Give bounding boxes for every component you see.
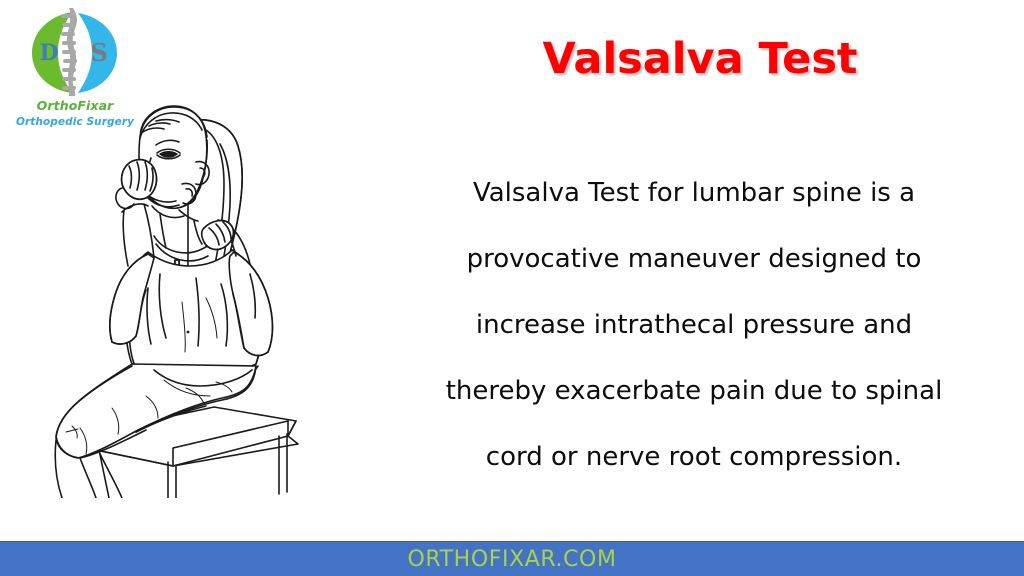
- logo-mark-icon: D S: [28, 8, 120, 96]
- description-line-1: Valsalva Test for lumbar spine is a: [392, 160, 996, 226]
- svg-text:S: S: [90, 38, 107, 67]
- description-line-2: provocative maneuver designed to: [392, 226, 996, 292]
- description-line-5: cord or nerve root compression.: [392, 424, 996, 490]
- description-line-3: increase intrathecal pressure and: [392, 292, 996, 358]
- page-title: Valsalva Test: [390, 34, 1010, 84]
- slide-canvas: D S OrthoFixar Orthopedic Surgery: [0, 0, 1024, 576]
- valsalva-maneuver-illustration: [36, 88, 332, 498]
- description-line-4: thereby exacerbate pain due to spinal: [392, 358, 996, 424]
- svg-text:D: D: [39, 40, 58, 66]
- footer-website-label[interactable]: ORTHOFIXAR.COM: [407, 547, 616, 572]
- description-paragraph: Valsalva Test for lumbar spine is a prov…: [392, 160, 996, 490]
- footer-bar: ORTHOFIXAR.COM: [0, 541, 1024, 576]
